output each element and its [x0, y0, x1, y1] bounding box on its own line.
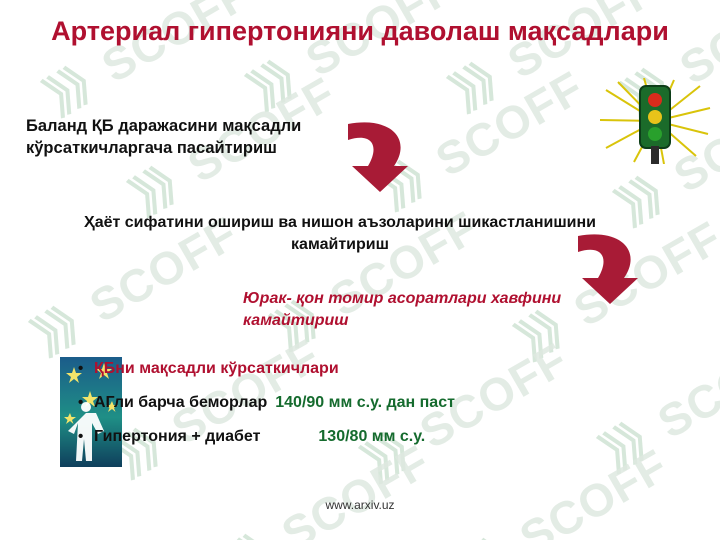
traffic-light-icon — [600, 78, 712, 164]
bullet-marker: • — [78, 429, 94, 444]
bullet-text: АГли барча беморлар — [94, 394, 267, 412]
bullet-value: 140/90 мм с.у. дан паст — [275, 394, 455, 412]
list-item: • Гипертония + диабет 130/80 мм с.у. — [78, 428, 678, 446]
goal-text-3: Юрак- қон томир асоратлари хавфини камай… — [243, 288, 603, 332]
goal-text-1: Баланд ҚБ даражасини мақсадли кўрсаткичл… — [26, 116, 326, 160]
goal-text-2: Ҳаёт сифатини ошириш ва нишон аъзоларини… — [80, 212, 600, 256]
bullet-value: 130/80 мм с.у. — [318, 428, 425, 446]
bullet-text: ҚБни мақсадли кўрсаткичлари — [94, 360, 339, 378]
bullet-text: Гипертония + диабет — [94, 428, 260, 446]
list-item: • ҚБни мақсадли кўрсаткичлари — [78, 360, 678, 378]
curved-arrow-down-right-icon-1 — [330, 110, 420, 205]
bullet-marker: • — [78, 361, 94, 376]
bullet-marker: • — [78, 395, 94, 410]
page-title: Артериал гипертонияни даволаш мақсадлари — [0, 16, 720, 47]
slide-canvas: 》》SCOFF》》SCOFF》》SCOFF》》SCOFF》》SCOFF》》SCO… — [0, 0, 720, 540]
list-item: • АГли барча беморлар 140/90 мм с.у. дан… — [78, 394, 678, 412]
bullet-list: • ҚБни мақсадли кўрсаткичлари • АГли бар… — [78, 360, 678, 462]
source-footer: www.arxiv.uz — [0, 498, 720, 512]
